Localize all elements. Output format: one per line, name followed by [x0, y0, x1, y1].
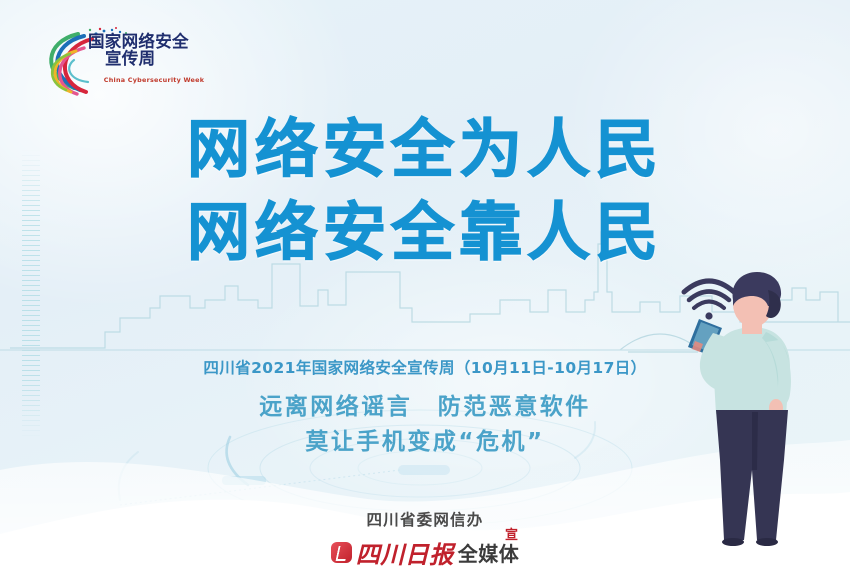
- footer: 四川省委网信办 四川日报 全媒体: [0, 508, 850, 570]
- footer-brand-row: 四川日报 全媒体: [0, 535, 850, 570]
- footer-xuan-stamp: 宣: [505, 524, 518, 543]
- wifi-icon: [684, 281, 734, 320]
- footer-organizer: 四川省委网信办: [0, 508, 850, 530]
- footer-paper-name: 四川日报: [356, 535, 454, 570]
- cybersecurity-week-poster: 国家网络安全 宣传周 China Cybersecurity Week 网络安全…: [0, 0, 850, 580]
- sichuan-daily-logo-icon: [331, 542, 352, 563]
- person-holding-phone-illustration: [0, 0, 850, 580]
- person-pants-seam: [752, 412, 758, 470]
